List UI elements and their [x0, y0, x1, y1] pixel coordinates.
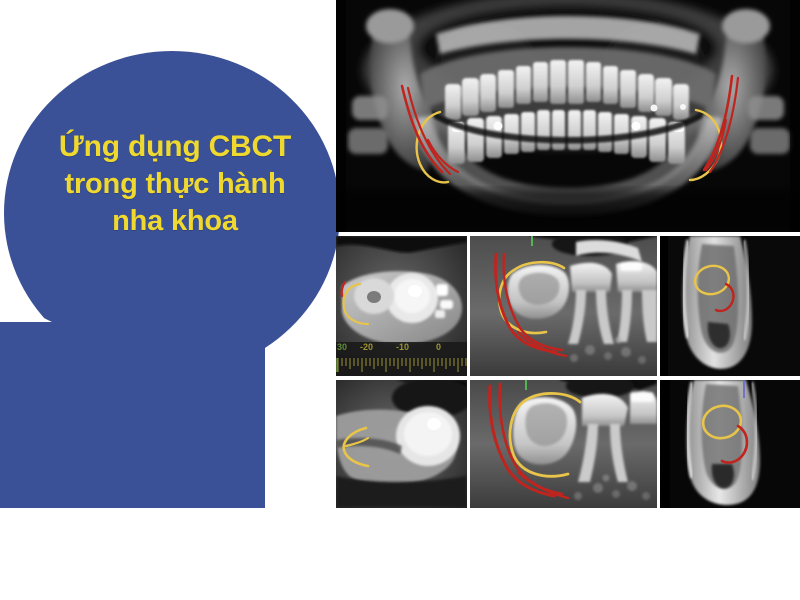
cbct-axial-slice: 30 -20 -10 0 — [336, 236, 467, 376]
badge-shape — [0, 0, 360, 520]
poster-canvas: Ứng dụng CBCT trong thực hành nha khoa — [0, 0, 800, 600]
panoramic-image — [336, 0, 800, 232]
cbct-sagittal-image — [470, 236, 657, 376]
cbct-row-middle: 30 -20 -10 0 — [336, 236, 800, 376]
title-badge: Ứng dụng CBCT trong thực hành nha khoa — [0, 0, 360, 520]
cbct-cross-sectional-slice-2 — [660, 380, 800, 508]
cbct-axial-image — [336, 236, 467, 376]
cbct-cross-image — [660, 236, 800, 376]
cbct-cross-sectional-slice — [660, 236, 800, 376]
cbct-cross-image-2 — [660, 380, 800, 508]
cbct-row-bottom — [336, 380, 800, 508]
cbct-axial-image-2 — [336, 380, 467, 508]
cbct-axial-slice-2 — [336, 380, 467, 508]
radiograph-mosaic: 30 -20 -10 0 — [336, 0, 800, 508]
cbct-sagittal-slice — [470, 236, 657, 376]
cbct-sagittal-image-2 — [470, 380, 657, 508]
cbct-sagittal-slice-2 — [470, 380, 657, 508]
panoramic-dental-xray — [336, 0, 800, 232]
